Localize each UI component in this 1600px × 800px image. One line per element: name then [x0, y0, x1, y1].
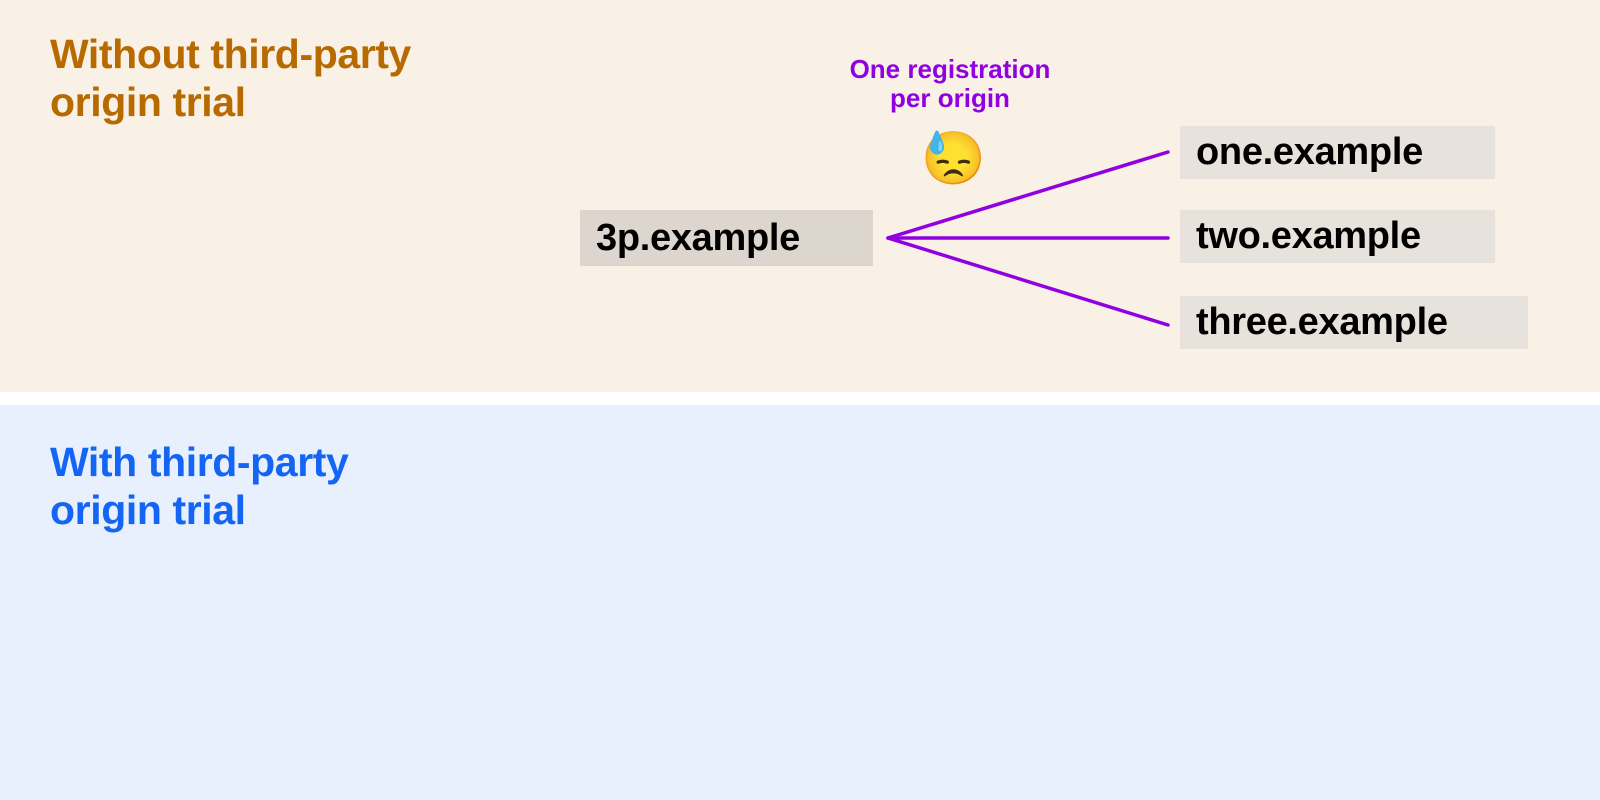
panel-without-origin-trial: Without third-party origin trial One reg…	[0, 0, 1600, 392]
downcast-face-with-sweat-emoji: 😓	[921, 129, 981, 189]
node-target-two-example-without[interactable]: two.example	[1180, 210, 1495, 263]
panel-with-origin-trial: With third-party origin trial One regist…	[0, 405, 1600, 800]
connector-to-three	[888, 238, 1168, 325]
section-title-without: Without third-party origin trial	[50, 30, 411, 127]
node-label: 3p.example	[596, 217, 800, 260]
node-label: three.example	[1196, 301, 1448, 344]
annotation-one-registration-per-origin: One registration per origin	[760, 55, 1140, 113]
diagram-canvas: Without third-party origin trial One reg…	[0, 0, 1600, 800]
section-title-with: With third-party origin trial	[50, 438, 348, 535]
node-target-one-example-without[interactable]: one.example	[1180, 126, 1495, 179]
node-source-3p-example-without[interactable]: 3p.example	[580, 210, 873, 266]
node-label: one.example	[1196, 131, 1423, 174]
node-target-three-example-without[interactable]: three.example	[1180, 296, 1528, 349]
node-label: two.example	[1196, 215, 1421, 258]
